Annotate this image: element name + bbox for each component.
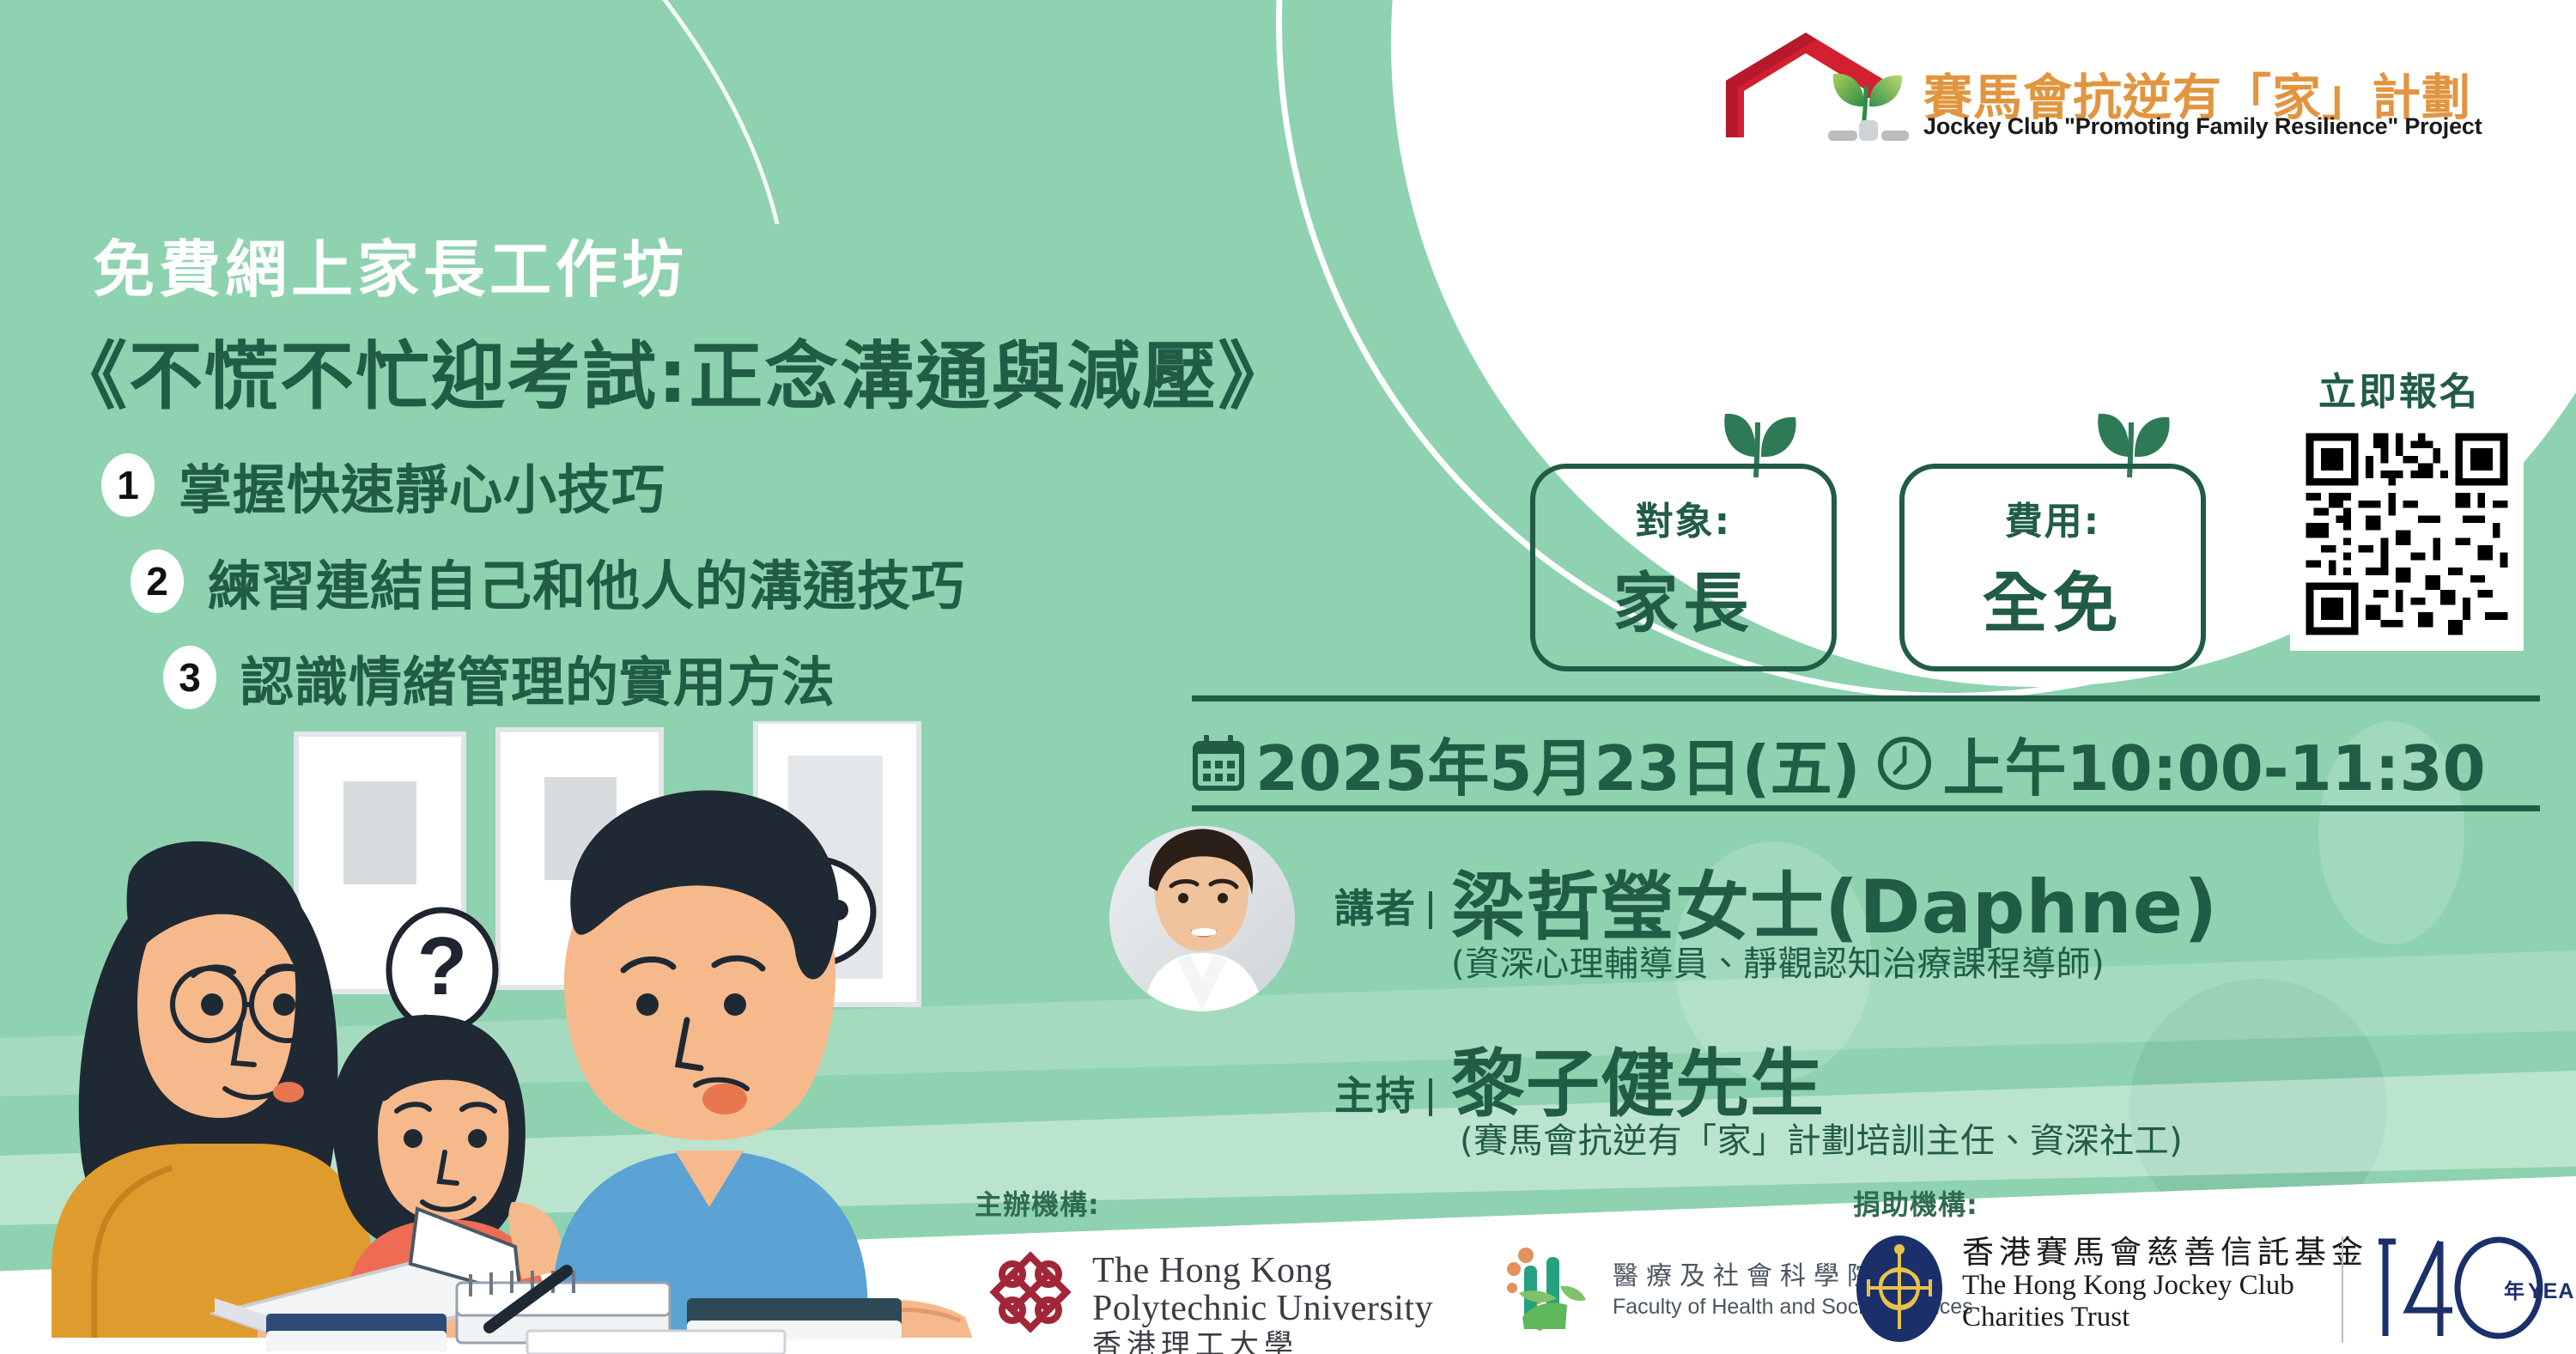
hkjc-name-en-2: Charities Trust: [1962, 1302, 2368, 1333]
speaker-role-label: 講者: [1334, 877, 1432, 934]
bullet-item-2: 2 練習連結自己和他人的溝通技巧: [131, 543, 965, 620]
bullet-item-1: 1 掌握快速靜心小技巧: [101, 446, 665, 524]
host-credentials: (賽馬會抗逆有「家」計劃培訓主任、資深社工): [1460, 1113, 2183, 1163]
signup-label: 立即報名: [2318, 361, 2480, 416]
fee-value: 全免: [1983, 550, 2123, 645]
bullet-number-1: 1: [101, 453, 155, 517]
poster-canvas: 賽馬會抗逆有「家」計劃 Jockey Club "Promoting Famil…: [0, 0, 2576, 1354]
hkjc-wordmark: 香港賽馬會慈善信託基金 The Hong Kong Jockey Club Ch…: [1962, 1235, 2368, 1333]
faculty-logo-icon: [1507, 1243, 1597, 1342]
speaker-credentials: (資深心理輔導員、靜觀認知治療課程導師): [1451, 936, 2105, 986]
audience-info-box: 對象: 家長: [1530, 464, 1837, 671]
hkjc-name-cn: 香港賽馬會慈善信託基金: [1962, 1235, 2368, 1270]
polyu-wordmark: The Hong Kong Polytechnic University 香港理…: [1092, 1252, 1433, 1354]
host-role-label: 主持: [1334, 1065, 1432, 1121]
audience-value: 家長: [1613, 550, 1754, 645]
divider-bottom: [1192, 805, 2540, 811]
event-datetime: 2025年5月23日(五) 上午10:00-11:30: [1192, 718, 2486, 808]
clock-icon: [1876, 735, 1933, 792]
anniversary-140-years-icon: 年 YEARS: [2370, 1228, 2576, 1348]
organiser-label: 主辦機構:: [975, 1183, 1100, 1223]
role-divider-bar: [1429, 891, 1432, 929]
bullet-text-3: 認識情緒管理的實用方法: [240, 639, 835, 716]
speaker-avatar: [1109, 826, 1295, 1011]
bullet-text-1: 掌握快速靜心小技巧: [179, 446, 665, 524]
divider-top: [1192, 695, 2540, 701]
anniversary-suffix-cn: 年: [2504, 1279, 2524, 1303]
funder-label: 捐助機構:: [1853, 1183, 1978, 1223]
svg-text:?: ?: [417, 920, 468, 1012]
project-logo-english: Jockey Club "Promoting Family Resilience…: [1923, 113, 2482, 140]
event-date: 2025年5月23日(五): [1255, 718, 1861, 808]
polyu-logo-icon: [983, 1249, 1078, 1344]
bullet-item-3: 3 認識情緒管理的實用方法: [163, 639, 835, 716]
polyu-line-2: Polytechnic University: [1092, 1290, 1433, 1327]
sprout-icon: [1807, 67, 1928, 144]
event-time: 上午10:00-11:30: [1943, 718, 2486, 808]
kicker-text: 免費網上家長工作坊: [93, 219, 688, 309]
page-title: 《不慌不忙迎考試:正念溝通與減壓》: [53, 316, 1293, 423]
host-role-text: 主持: [1334, 1072, 1417, 1119]
footer-vertical-divider: [2342, 1236, 2343, 1343]
family-illustration: ?: [0, 721, 1013, 1354]
polyu-line-1: The Hong Kong: [1092, 1252, 1433, 1290]
fee-info-box: 費用: 全免: [1899, 464, 2206, 671]
fee-label: 費用:: [2005, 490, 2101, 545]
qr-code-icon: [2299, 426, 2515, 642]
speaker-role-text: 講者: [1334, 885, 1417, 932]
polyu-line-3: 香港理工大學: [1092, 1331, 1433, 1354]
role-divider-bar-2: [1429, 1078, 1432, 1116]
hkjc-name-en-1: The Hong Kong Jockey Club: [1962, 1270, 2368, 1302]
hkjc-logo-icon: [1855, 1235, 1944, 1343]
project-logo: 賽馬會抗逆有「家」計劃 Jockey Club "Promoting Famil…: [1709, 17, 2567, 146]
bullet-text-2: 練習連結自己和他人的溝通技巧: [208, 543, 965, 620]
bullet-number-3: 3: [163, 646, 216, 709]
anniversary-suffix-en: YEARS: [2528, 1279, 2576, 1303]
bullet-number-2: 2: [131, 549, 184, 613]
registration-qr-code[interactable]: [2290, 417, 2524, 651]
audience-label: 對象:: [1636, 490, 1732, 545]
calendar-icon: [1192, 735, 1245, 792]
